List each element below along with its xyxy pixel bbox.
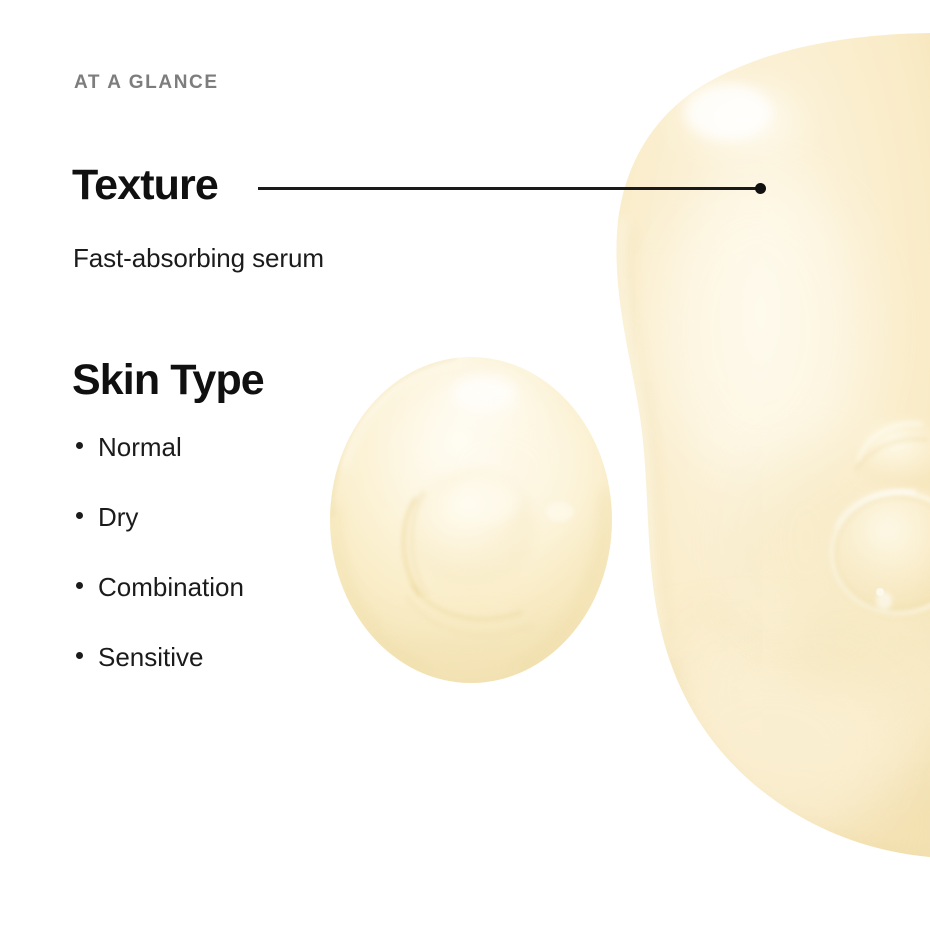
list-item: Sensitive [73, 644, 244, 714]
bullet-icon [76, 652, 83, 659]
skin-type-list: Normal Dry Combination Sensitive [73, 434, 244, 714]
list-item: Dry [73, 504, 244, 574]
section-eyebrow: AT A GLANCE [74, 73, 219, 92]
serum-bubble-small [853, 421, 930, 489]
bullet-icon [76, 512, 83, 519]
texture-leader-dot [755, 183, 766, 194]
serum-dome [404, 470, 574, 635]
list-item: Combination [73, 574, 244, 644]
small-serum-droplet [330, 357, 612, 702]
texture-value: Fast-absorbing serum [73, 244, 324, 273]
list-item-label: Combination [98, 574, 244, 600]
large-serum-droplet [570, 33, 930, 920]
bullet-icon [76, 582, 83, 589]
list-item-label: Sensitive [98, 644, 204, 670]
at-a-glance-panel: AT A GLANCE Texture Fast-absorbing serum… [0, 0, 930, 930]
serum-bubble-large [830, 491, 930, 615]
bullet-icon [76, 442, 83, 449]
list-item-label: Dry [98, 504, 138, 530]
list-item-label: Normal [98, 434, 182, 460]
list-item: Normal [73, 434, 244, 504]
texture-heading: Texture [72, 164, 218, 207]
texture-leader-line [258, 187, 762, 190]
skin-type-heading: Skin Type [72, 359, 264, 402]
